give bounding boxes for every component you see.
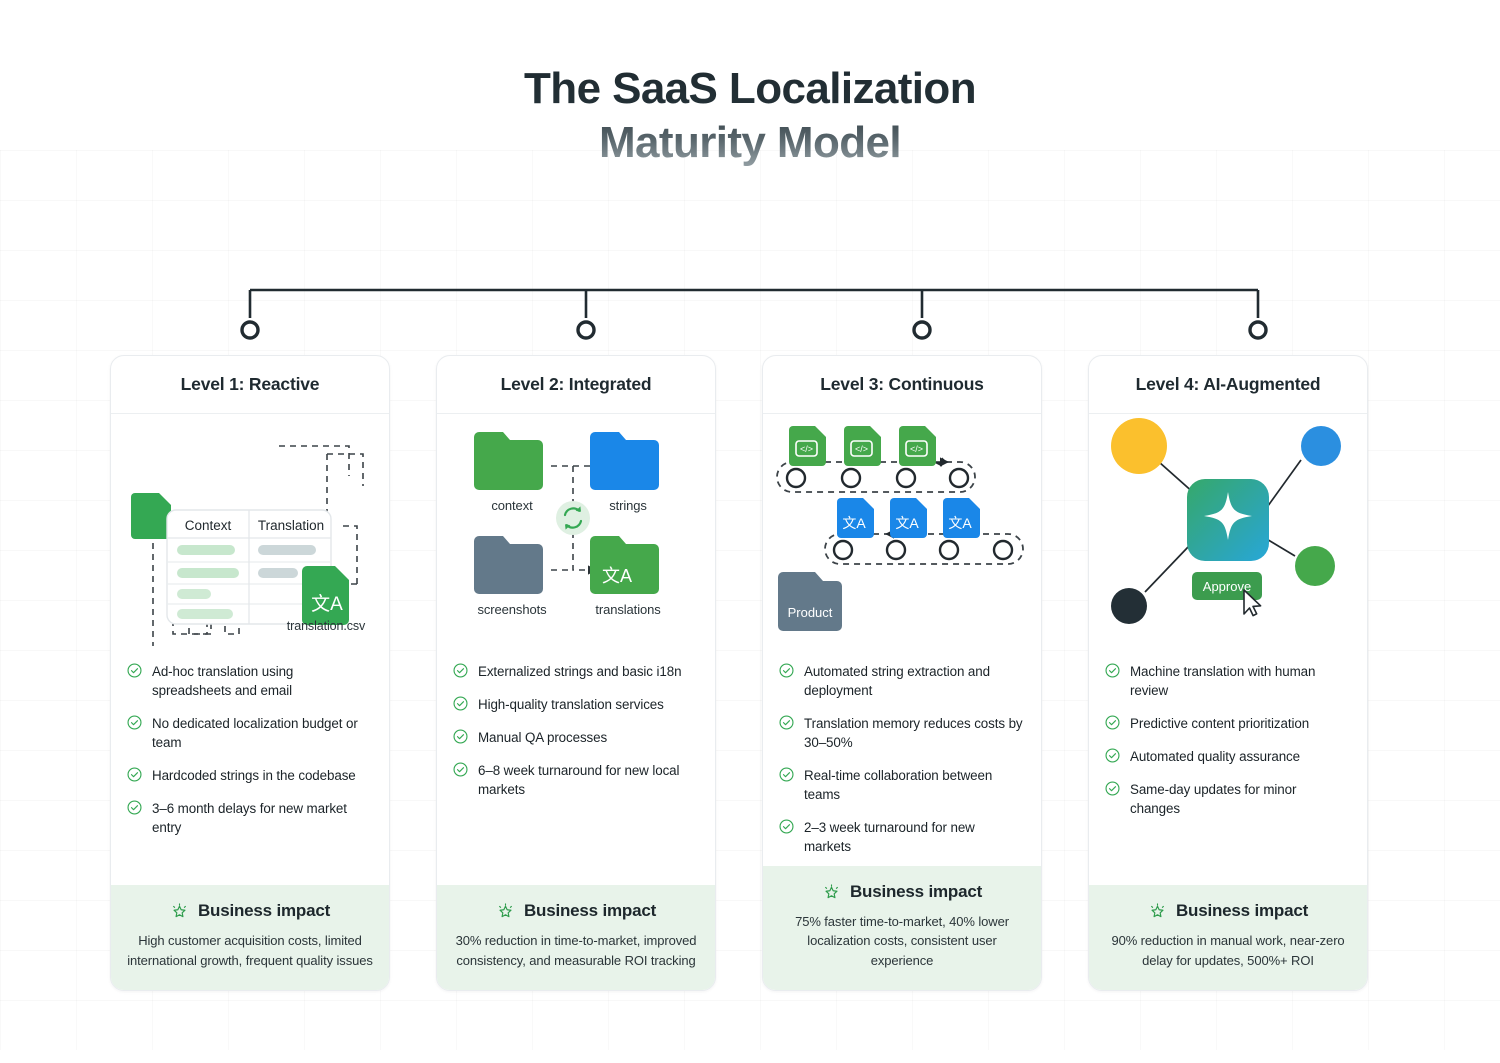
code-glyph: </> <box>910 444 923 454</box>
folder-label-translations: translations <box>569 602 687 617</box>
check-circle-icon <box>127 800 142 815</box>
bullet-text: 3–6 month delays for new market entry <box>152 799 371 837</box>
bullet-item: Manual QA processes <box>453 728 697 747</box>
translate-glyph: 文A <box>948 515 972 531</box>
business-impact-level-3: Business impact 75% faster time-to-marke… <box>763 866 1041 990</box>
bullet-text: High-quality translation services <box>478 695 664 714</box>
connector-node-3 <box>914 322 930 338</box>
code-glyph: </> <box>855 444 868 454</box>
check-circle-icon <box>453 762 468 777</box>
bullet-item: Translation memory reduces costs by 30–5… <box>779 714 1023 752</box>
bullet-item: Externalized strings and basic i18n <box>453 662 697 681</box>
connector-node-1 <box>242 322 258 338</box>
node-green <box>1295 546 1335 586</box>
bullet-text: Automated string extraction and deployme… <box>804 662 1023 700</box>
bullet-list-level-3: Automated string extraction and deployme… <box>763 646 1041 866</box>
business-impact-level-4: Business impact 90% reduction in manual … <box>1089 885 1367 989</box>
folder-label-strings: strings <box>575 498 681 513</box>
bullet-text: No dedicated localization budget or team <box>152 714 371 752</box>
bullet-text: Manual QA processes <box>478 728 607 747</box>
translate-file-icons-bottom: 文A 文A 文A <box>837 498 980 538</box>
card-level-4[interactable]: Level 4: AI-Augmented <box>1088 355 1368 991</box>
folder-screenshots-icon <box>474 536 543 594</box>
translate-glyph: 文A <box>842 515 866 531</box>
business-impact-header: Business impact <box>1105 901 1351 921</box>
translation-file-label: translation.csv <box>261 619 390 633</box>
bullet-item: Same-day updates for minor changes <box>1105 780 1349 818</box>
bullet-item: 2–3 week turnaround for new markets <box>779 818 1023 856</box>
bullet-text: Real-time collaboration between teams <box>804 766 1023 804</box>
card-header-level-4: Level 4: AI-Augmented <box>1089 356 1367 414</box>
check-circle-icon <box>779 767 794 782</box>
business-impact-level-1: Business impact High customer acquisitio… <box>111 885 389 989</box>
bullet-text: Predictive content prioritization <box>1130 714 1309 733</box>
check-circle-icon <box>127 767 142 782</box>
illustration-level-1: Context Translation 文A translation.csv <box>111 414 389 646</box>
bullet-list-level-1: Ad-hoc translation using spreadsheets an… <box>111 646 389 885</box>
bullet-text: Ad-hoc translation using spreadsheets an… <box>152 662 371 700</box>
business-impact-text: 75% faster time-to-market, 40% lower loc… <box>779 912 1025 970</box>
check-circle-icon <box>1105 781 1120 796</box>
page-title: The SaaS Localization Maturity Model <box>0 62 1500 169</box>
node-yellow <box>1111 418 1167 474</box>
check-circle-icon <box>1105 663 1120 678</box>
card-header-level-3: Level 3: Continuous <box>763 356 1041 414</box>
connector-node-4 <box>1250 322 1266 338</box>
card-level-1[interactable]: Level 1: Reactive <box>110 355 390 991</box>
sparkle-star-icon <box>822 883 841 902</box>
bullet-list-level-2: Externalized strings and basic i18n High… <box>437 646 715 885</box>
connector-bracket <box>0 270 1500 360</box>
bullet-item: Ad-hoc translation using spreadsheets an… <box>127 662 371 700</box>
folder-label-context: context <box>459 498 565 513</box>
illustration-level-2: 文A context strings screenshots translati… <box>437 414 715 646</box>
sparkle-star-icon <box>170 902 189 921</box>
translate-glyph: 文A <box>602 566 632 586</box>
illustration-level-3: </> </> </> <box>763 414 1041 646</box>
check-circle-icon <box>127 663 142 678</box>
translation-file-icon: 文A <box>302 566 349 625</box>
title-line-1: The SaaS Localization <box>0 62 1500 116</box>
card-title: Level 4: AI-Augmented <box>1136 374 1321 395</box>
bullet-text: Machine translation with human review <box>1130 662 1349 700</box>
folder-strings-icon <box>590 432 659 490</box>
bullet-item: 6–8 week turnaround for new local market… <box>453 761 697 799</box>
bullet-text: Hardcoded strings in the codebase <box>152 766 356 785</box>
bullet-text: Automated quality assurance <box>1130 747 1300 766</box>
business-impact-level-2: Business impact 30% reduction in time-to… <box>437 885 715 989</box>
check-circle-icon <box>453 696 468 711</box>
bullet-text: Same-day updates for minor changes <box>1130 780 1349 818</box>
check-circle-icon <box>453 663 468 678</box>
card-title: Level 2: Integrated <box>501 374 652 395</box>
bullet-text: 6–8 week turnaround for new local market… <box>478 761 697 799</box>
node-blue <box>1301 426 1341 466</box>
check-circle-icon <box>1105 748 1120 763</box>
card-level-2[interactable]: Level 2: Integrated <box>436 355 716 991</box>
bullet-item: High-quality translation services <box>453 695 697 714</box>
bullet-item: 3–6 month delays for new market entry <box>127 799 371 837</box>
business-impact-header: Business impact <box>779 882 1025 902</box>
bullet-item: Hardcoded strings in the codebase <box>127 766 371 785</box>
table-header-translation: Translation <box>258 518 324 533</box>
business-impact-title: Business impact <box>1176 901 1308 921</box>
bullet-item: No dedicated localization budget or team <box>127 714 371 752</box>
code-file-icons-top: </> </> </> <box>789 426 936 466</box>
business-impact-title: Business impact <box>850 882 982 902</box>
business-impact-header: Business impact <box>127 901 373 921</box>
card-level-3[interactable]: Level 3: Continuous <box>762 355 1042 991</box>
code-glyph: </> <box>800 444 813 454</box>
product-folder-label: Product <box>788 605 833 620</box>
card-header-level-2: Level 2: Integrated <box>437 356 715 414</box>
check-circle-icon <box>779 715 794 730</box>
ai-hub-icon <box>1187 479 1269 561</box>
title-line-2: Maturity Model <box>0 116 1500 170</box>
bullet-item: Automated string extraction and deployme… <box>779 662 1023 700</box>
maturity-cards: Level 1: Reactive <box>110 355 1400 991</box>
connector-node-2 <box>578 322 594 338</box>
folder-context-icon <box>474 432 543 490</box>
check-circle-icon <box>1105 715 1120 730</box>
business-impact-text: 90% reduction in manual work, near-zero … <box>1105 931 1351 969</box>
approve-button: Approve <box>1192 572 1262 600</box>
folder-label-screenshots: screenshots <box>451 602 573 617</box>
bullet-item: Automated quality assurance <box>1105 747 1349 766</box>
folder-product-icon: Product <box>778 572 842 631</box>
translate-glyph: 文A <box>311 593 343 615</box>
illustration-level-4: Approve <box>1089 414 1367 646</box>
card-header-level-1: Level 1: Reactive <box>111 356 389 414</box>
bullet-item: Machine translation with human review <box>1105 662 1349 700</box>
translate-glyph: 文A <box>895 515 919 531</box>
card-title: Level 3: Continuous <box>820 374 983 395</box>
folder-translations-icon: 文A <box>590 536 659 594</box>
sparkle-star-icon <box>496 902 515 921</box>
table-header-context: Context <box>185 518 232 533</box>
bullet-text: Translation memory reduces costs by 30–5… <box>804 714 1023 752</box>
check-circle-icon <box>779 819 794 834</box>
business-impact-text: High customer acquisition costs, limited… <box>127 931 373 969</box>
check-circle-icon <box>453 729 468 744</box>
check-circle-icon <box>779 663 794 678</box>
bullet-list-level-4: Machine translation with human review Pr… <box>1089 646 1367 885</box>
check-circle-icon <box>127 715 142 730</box>
bullet-item: Real-time collaboration between teams <box>779 766 1023 804</box>
business-impact-header: Business impact <box>453 901 699 921</box>
node-dark <box>1111 588 1147 624</box>
business-impact-title: Business impact <box>524 901 656 921</box>
bullet-text: Externalized strings and basic i18n <box>478 662 681 681</box>
bullet-item: Predictive content prioritization <box>1105 714 1349 733</box>
business-impact-title: Business impact <box>198 901 330 921</box>
source-file-icon <box>131 493 171 539</box>
sparkle-star-icon <box>1148 902 1167 921</box>
card-title: Level 1: Reactive <box>181 374 320 395</box>
bullet-text: 2–3 week turnaround for new markets <box>804 818 1023 856</box>
business-impact-text: 30% reduction in time-to-market, improve… <box>453 931 699 969</box>
